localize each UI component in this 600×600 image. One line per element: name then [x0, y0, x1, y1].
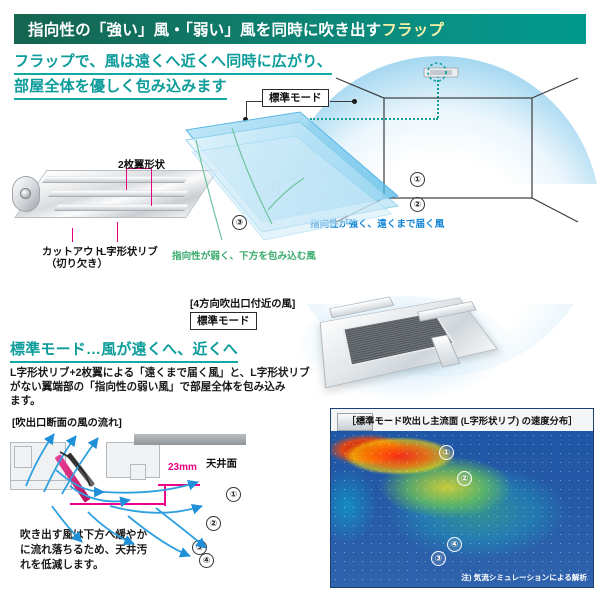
room-diagram [252, 52, 600, 242]
dimension-vertical [164, 484, 166, 506]
cfd-marker-1: ① [439, 445, 454, 460]
cfd-marker-4: ④ [447, 537, 462, 552]
unit-dotted-horizontal [310, 118, 438, 120]
standard-mode-body-line2: がない翼端部の「指向性の弱い風」で部屋全体を包み込み [10, 380, 285, 394]
flap-pivot-knob [20, 188, 31, 199]
unit-dotted-drop [437, 72, 439, 118]
room-marker-2: ② [410, 197, 425, 212]
unit-bracket-title: [4方向吹出口付近の風] [190, 295, 295, 310]
xsec-housing-detail [14, 446, 32, 468]
leader-two-wing-left [126, 168, 127, 190]
xsec-marker-1: ① [226, 487, 241, 502]
mode-leader-left-dot [243, 117, 248, 122]
xsec-housing-notch [130, 464, 146, 480]
dimension-baseline [70, 503, 166, 505]
caption-weak-directivity: 指向性が弱く、下方を包み込む風 [172, 248, 316, 262]
room-marker-1: ① [410, 172, 425, 187]
label-two-wing: 2枚翼形状 [118, 156, 165, 171]
xsec-marker-4: ④ [199, 553, 214, 568]
xsec-caption-line3: れを低減します。 [20, 558, 104, 572]
dimension-topline [158, 484, 200, 486]
flap-strip-mid [48, 190, 189, 197]
page-root: 指向性の「強い」風・「弱い」風を同時に吹き出すフラップ フラップで、風は遠くへ近… [0, 0, 600, 600]
cfd-marker-2: ② [457, 471, 472, 486]
cfd-marker-3: ③ [431, 551, 446, 566]
xsec-ceiling-plane [134, 434, 246, 445]
dimension-label-23mm: 23mm [168, 462, 197, 473]
unit-mode-label: 標準モード [190, 312, 257, 330]
flap-strip-lower [54, 204, 189, 211]
label-cutout-line2: （切り欠き） [46, 255, 108, 270]
page-header: 指向性の「強い」風・「弱い」風を同時に吹き出すフラップ [14, 14, 586, 44]
mode-leader-right [330, 101, 354, 102]
standard-mode-body-line1: L字形状リブ+2枚翼による「遠くまで届く風」と、L字形状リブ [10, 366, 310, 380]
cfd-title: ［標準モード吹出し主流面 (L字形状リブ) の速度分布］ [331, 409, 593, 431]
caption-strong-directivity: 指向性が強く、遠くまで届く風 [310, 216, 444, 230]
xsec-caption-line2: に流れ落ちるため、天井汚 [20, 543, 147, 557]
standard-mode-heading: 標準モード…風が遠くへ、近くへ [10, 340, 238, 363]
room-marker-3: ③ [232, 215, 247, 230]
page-title-main: 指向性の「強い」風・「弱い」風を同時に吹き出す [28, 22, 381, 39]
leader-l-rib [117, 222, 118, 242]
standard-mode-heading-text: 標準モード…風が遠くへ、近くへ [10, 340, 238, 363]
label-l-rib: L字形状リブ [100, 243, 158, 258]
xsec-marker-2: ② [206, 516, 221, 531]
page-title: 指向性の「強い」風・「弱い」風を同時に吹き出すフラップ [14, 18, 444, 40]
leader-two-wing-right [151, 168, 152, 206]
ceiling-cassette-photo [310, 288, 500, 392]
mode-leader-right-dot [352, 99, 357, 104]
standard-mode-body-line3: ます。 [10, 394, 41, 408]
cfd-vector-overlay [331, 431, 593, 587]
intro-heading-line2: 部屋全体を優しく包み込みます [14, 77, 227, 100]
flap-strip-upper [42, 176, 189, 183]
ceiling-surface-label: 天井面 [206, 455, 237, 470]
mode-leader-left [246, 101, 262, 102]
room-mode-label: 標準モード [262, 89, 329, 107]
dome-mask [252, 184, 600, 304]
cfd-note: 注) 気流シミュレーションによる解析 [461, 572, 587, 583]
cross-section-bracket-title: [吹出口断面の風の流れ] [12, 414, 122, 429]
page-title-accent: フラップ [381, 22, 444, 39]
xsec-housing-base [10, 480, 72, 490]
cfd-simulation-image: ［標準モード吹出し主流面 (L字形状リブ) の速度分布］ 注) 気流シミュレーシ… [330, 408, 594, 588]
leader-cutout [72, 228, 73, 242]
xsec-caption-line1: 吹き出す風は下方へ緩やか [20, 528, 147, 542]
room-marker-4: ④ [265, 182, 280, 197]
